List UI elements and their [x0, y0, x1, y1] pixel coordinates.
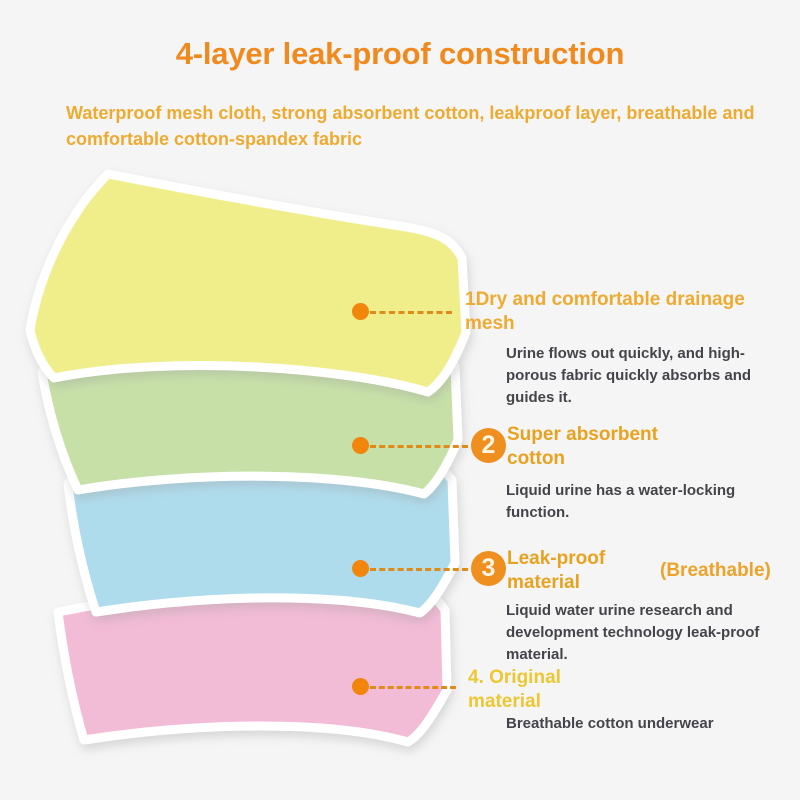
callout-2-body: Liquid urine has a water-locking functio… [506, 480, 791, 524]
fabric-layer-pink-shape [58, 576, 447, 742]
page-title: 4-layer leak-proof construction [0, 36, 800, 72]
callout-4-dot-icon [352, 678, 369, 695]
page-subtitle: Waterproof mesh cloth, strong absorbent … [66, 100, 756, 152]
fabric-layer-green-shape [42, 334, 458, 494]
callout-3-body: Liquid water urine research and developm… [506, 600, 786, 666]
callout-4-dash-icon [370, 686, 456, 689]
fabric-layer-green [42, 334, 458, 494]
callout-3-dot-icon [352, 560, 369, 577]
callout-3-number-badge: 3 [471, 551, 506, 586]
callout-3-dash-icon [370, 568, 468, 571]
callout-1-dot-icon [352, 303, 369, 320]
infographic-canvas: 4-layer leak-proof construction Waterpro… [0, 0, 800, 800]
callout-1-dash-icon [370, 311, 452, 314]
callout-4-body: Breathable cotton underwear [506, 713, 786, 735]
callout-2-dot-icon [352, 437, 369, 454]
fabric-layer-yellow [30, 174, 466, 392]
callout-3-breathable-label: (Breathable) [660, 560, 771, 582]
fabric-layer-blue [68, 449, 455, 613]
fabric-layer-yellow-shape [30, 174, 466, 392]
callout-3-heading: Leak-proof material [507, 547, 657, 595]
callout-2-dash-icon [370, 445, 468, 448]
callout-1-heading: 1Dry and comfortable drainage mesh [465, 288, 795, 336]
callout-2-heading: Super absorbent cotton [507, 423, 707, 471]
fabric-layer-pink [58, 576, 447, 742]
callout-2-number-badge: 2 [471, 428, 506, 463]
fabric-layer-blue-shape [68, 449, 455, 613]
callout-1-body: Urine flows out quickly, and high-porous… [506, 343, 791, 409]
callout-4-heading: 4. Original material [468, 666, 628, 714]
